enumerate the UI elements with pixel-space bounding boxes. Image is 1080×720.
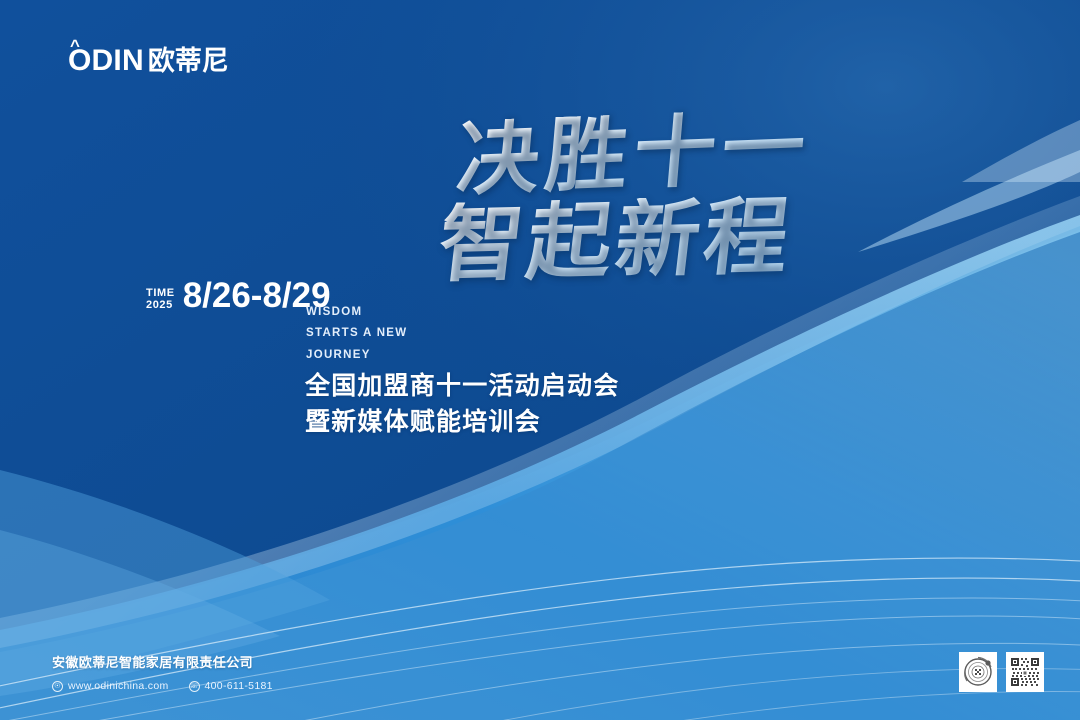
square-qr-glyph <box>1009 655 1041 689</box>
contact-list: ☉ www.odinichina.com ☏ 400-611-5181 <box>52 680 273 692</box>
globe-icon: ☉ <box>52 681 63 692</box>
background-artwork <box>0 0 1080 720</box>
tagline-line-1: WISDOM <box>306 302 407 323</box>
website-url: www.odinichina.com <box>68 680 169 692</box>
logo-din-letters: DIN <box>92 44 144 77</box>
subtitle-line-2: 暨新媒体赋能培训会 <box>305 404 619 440</box>
brand-logo: ^ODIN 欧蒂尼 <box>68 46 229 76</box>
event-subtitle: 全国加盟商十一活动启动会 暨新媒体赋能培训会 <box>305 368 619 441</box>
time-label-stack: TIME 2025 <box>146 280 175 312</box>
wechat-mini-program-qr[interactable] <box>1006 652 1044 692</box>
tagline-line-3: JOURNEY <box>306 345 407 366</box>
phone-contact: ☏ 400-611-5181 <box>189 680 273 692</box>
year-label: 2025 <box>146 299 175 311</box>
logo-circumflex-icon: ^ <box>70 37 80 54</box>
phone-icon: ☏ <box>189 681 200 692</box>
tagline-line-2: STARTS A NEW <box>306 323 407 344</box>
website-contact: ☉ www.odinichina.com <box>52 680 169 692</box>
company-name: 安徽欧蒂尼智能家居有限责任公司 <box>52 656 273 673</box>
english-tagline: WISDOM STARTS A NEW JOURNEY <box>306 302 407 366</box>
wechat-official-account-qr[interactable] <box>959 652 997 692</box>
logo-wordmark: ^ODIN <box>68 46 144 76</box>
logo-chinese-name: 欧蒂尼 <box>148 48 229 75</box>
qr-code-group <box>959 652 1044 692</box>
event-poster: ^ODIN 欧蒂尼 决胜十一 智起新程 TIME 2025 8/26-8/29 … <box>0 0 1080 720</box>
background-waves-svg <box>0 0 1080 720</box>
subtitle-line-1: 全国加盟商十一活动启动会 <box>305 368 619 404</box>
footer: 安徽欧蒂尼智能家居有限责任公司 ☉ www.odinichina.com ☏ 4… <box>52 656 273 692</box>
event-date-block: TIME 2025 8/26-8/29 <box>146 278 331 313</box>
phone-number: 400-611-5181 <box>205 680 273 692</box>
circular-qr-glyph <box>962 655 994 689</box>
time-label: TIME <box>146 287 175 299</box>
